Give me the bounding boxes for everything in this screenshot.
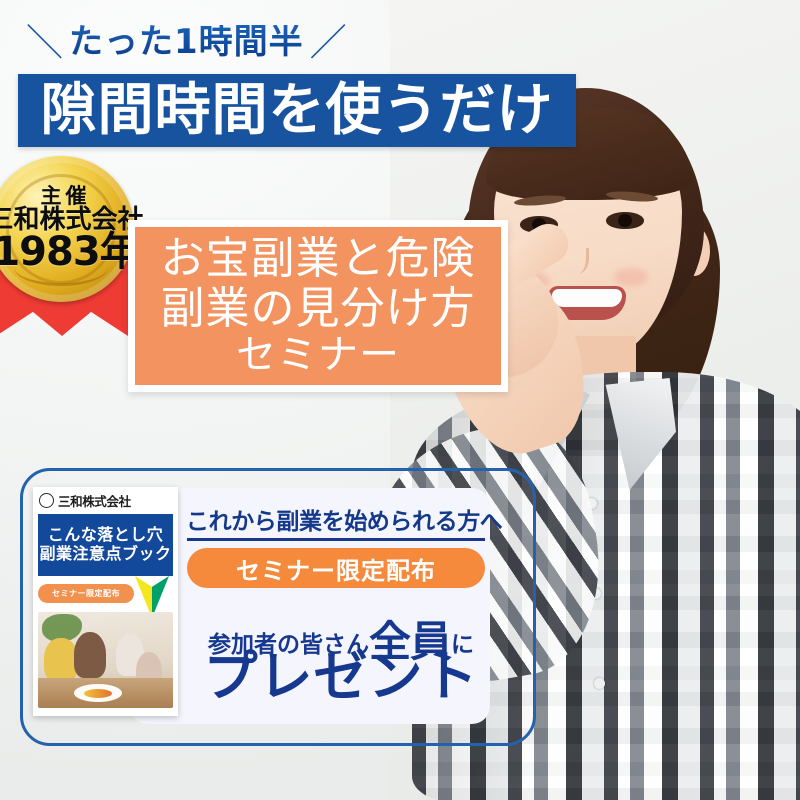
booklet-title-line-2: 副業注意点ブック bbox=[39, 545, 171, 564]
banner-canvas: ＼ たった1時間半 ／ 隙間時間を使うだけ 主催 三和株式会社 1983年 お宝… bbox=[0, 0, 800, 800]
eyebrow-line: ＼ たった1時間半 ／ bbox=[26, 18, 347, 66]
slash-right-icon: ／ bbox=[310, 24, 347, 61]
cheek-right bbox=[614, 268, 648, 286]
company-seal-icon bbox=[39, 493, 54, 508]
booklet-photo bbox=[38, 612, 173, 708]
seminar-title-box: お宝副業と危険 副業の見分け方 セミナー bbox=[128, 220, 508, 392]
seminar-title-line-3: セミナー bbox=[236, 333, 400, 378]
eye-right bbox=[606, 212, 644, 229]
booklet-pill-row: セミナー限定配布 bbox=[38, 582, 173, 608]
slash-left-icon: ＼ bbox=[26, 24, 63, 61]
booklet-title-band: こんな落とし穴 副業注意点ブック bbox=[38, 514, 173, 576]
badge-line-3: 1983年 bbox=[0, 232, 139, 273]
booklet-logo: 三和株式会社 bbox=[33, 487, 178, 514]
booklet-cover: 三和株式会社 こんな落とし穴 副業注意点ブック セミナー限定配布 bbox=[33, 487, 178, 716]
booklet-title-line-1: こんな落とし穴 bbox=[48, 526, 164, 545]
booklet-limited-pill: セミナー限定配布 bbox=[38, 584, 134, 603]
headline-band-text: 隙間時間を使うだけ bbox=[41, 83, 554, 139]
present-text: プレゼント bbox=[186, 650, 496, 704]
gift-lead-text: これから副業を始められる方へ bbox=[186, 502, 486, 536]
eyebrow-text: たった1時間半 bbox=[69, 25, 304, 59]
headline-band: 隙間時間を使うだけ bbox=[18, 74, 576, 147]
seminar-title-line-2: 副業の見分け方 bbox=[161, 284, 476, 333]
seminar-title-line-1: お宝副業と危険 bbox=[161, 234, 476, 283]
seminar-limited-pill: セミナー限定配布 bbox=[187, 548, 485, 588]
badge-line-1: 主催 bbox=[41, 186, 91, 207]
booklet-logo-text: 三和株式会社 bbox=[58, 491, 131, 510]
shirt-button bbox=[594, 678, 605, 689]
gift-divider bbox=[187, 538, 485, 541]
